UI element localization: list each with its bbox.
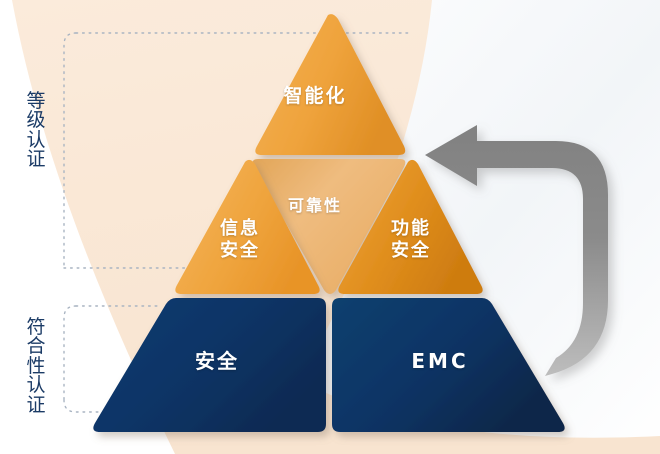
side-label-char: 证 [24, 150, 48, 169]
side-label-char: 级 [24, 111, 48, 130]
block-safety[interactable] [93, 298, 326, 432]
side-label-compliance-certification: 符合性认证 [24, 318, 48, 415]
side-label-char: 证 [24, 396, 48, 415]
pyramid-layer [0, 0, 660, 454]
side-label-level-certification: 等级认证 [24, 92, 48, 170]
block-emc[interactable] [332, 298, 565, 432]
block-intelligence[interactable] [255, 14, 405, 155]
side-label-char: 认 [24, 376, 48, 395]
diagram-canvas: 等级认证 符合性认证 智能化 可靠性 信息 安全 功能 安全 安全 EMC [0, 0, 660, 454]
side-label-char: 合 [24, 337, 48, 356]
